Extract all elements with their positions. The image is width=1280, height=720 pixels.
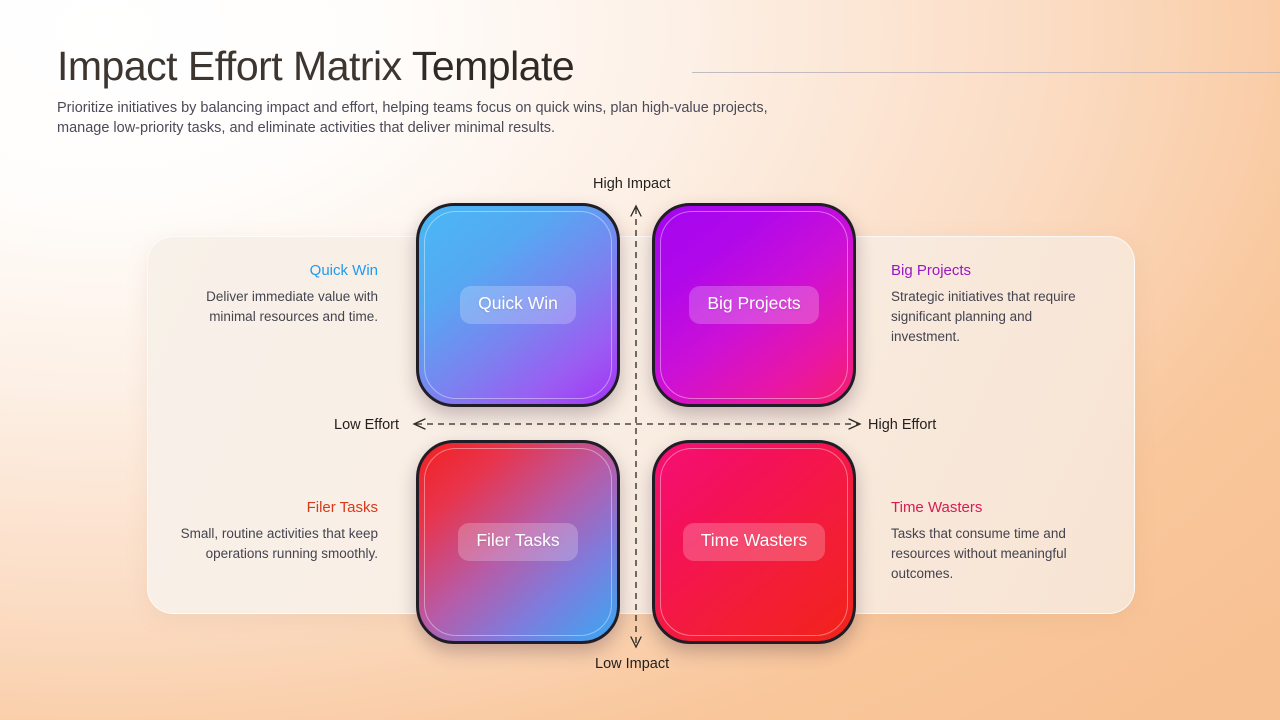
quadrant-description-filer-tasks: Filer Tasks Small, routine activities th… — [168, 499, 378, 564]
axis-label-low-effort: Low Effort — [334, 417, 399, 433]
quadrant-tile-label: Time Wasters — [683, 523, 826, 561]
quadrant-title: Time Wasters — [891, 499, 1101, 517]
quadrant-description-time-wasters: Time Wasters Tasks that consume time and… — [891, 499, 1101, 584]
quadrant-tile-filer-tasks[interactable]: Filer Tasks — [416, 440, 620, 644]
axis-label-high-effort: High Effort — [868, 417, 936, 433]
quadrant-title: Big Projects — [891, 262, 1101, 280]
quadrant-tile-label: Big Projects — [689, 286, 818, 324]
quadrant-description-quick-win: Quick Win Deliver immediate value with m… — [168, 262, 378, 327]
quadrant-body: Deliver immediate value with minimal res… — [168, 287, 378, 327]
quadrant-tile-label: Filer Tasks — [458, 523, 577, 561]
quadrant-body: Small, routine activities that keep oper… — [168, 524, 378, 564]
quadrant-body: Strategic initiatives that require signi… — [891, 287, 1101, 347]
quadrant-description-big-projects: Big Projects Strategic initiatives that … — [891, 262, 1101, 347]
quadrant-tile-label: Quick Win — [460, 286, 576, 324]
quadrant-tile-big-projects[interactable]: Big Projects — [652, 203, 856, 407]
quadrant-title: Quick Win — [168, 262, 378, 280]
quadrant-tile-quick-win[interactable]: Quick Win — [416, 203, 620, 407]
matrix-axes — [0, 0, 1280, 720]
quadrant-title: Filer Tasks — [168, 499, 378, 517]
quadrant-body: Tasks that consume time and resources wi… — [891, 524, 1101, 584]
axis-label-high-impact: High Impact — [593, 176, 670, 192]
axis-label-low-impact: Low Impact — [595, 656, 669, 672]
impact-effort-matrix: High Impact Low Impact Low Effort High E… — [0, 0, 1280, 720]
quadrant-tile-time-wasters[interactable]: Time Wasters — [652, 440, 856, 644]
